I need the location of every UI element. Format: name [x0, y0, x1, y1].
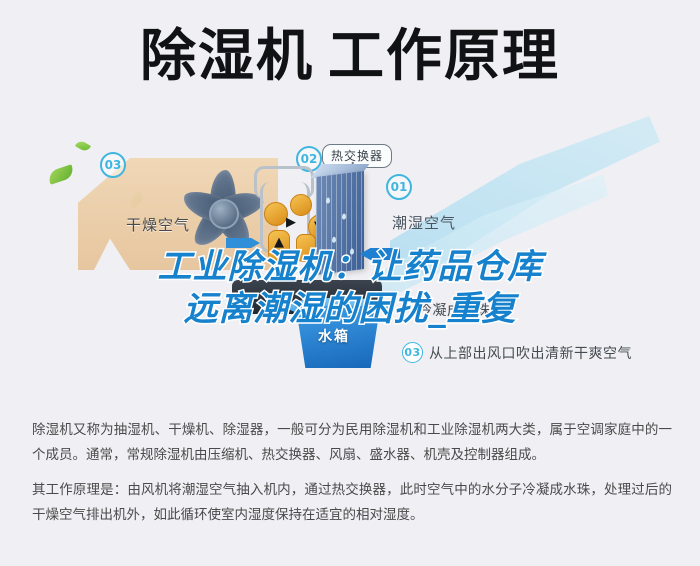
badge-03: 03 [100, 152, 126, 178]
overlay-headline-line1: 工业除湿机：让药品仓库 [0, 246, 700, 288]
coil [264, 202, 288, 226]
badge-01: 01 [386, 174, 412, 200]
body-text: 除湿机又称为抽湿机、干燥机、除湿器，一般可分为民用除湿机和工业除湿机两大类，属于… [32, 418, 672, 538]
page-root: 除湿机工作原理 干燥空气 03 潮湿空气 01 02 热交换器 [0, 0, 700, 566]
body-paragraph-1: 除湿机又称为抽湿机、干燥机、除湿器，一般可分为民用除湿机和工业除湿机两大类，属于… [32, 418, 672, 468]
leaf-icon [47, 164, 76, 184]
coil [290, 194, 312, 216]
page-title-part2: 工作原理 [328, 24, 560, 89]
humid-air-label: 潮湿空气 [392, 212, 456, 233]
caption-03-text: 从上部出风口吹出清新干爽空气 [429, 343, 632, 363]
overlay-headline-line2: 远离潮湿的困扰_重复 [0, 288, 700, 330]
body-paragraph-2: 其工作原理是：由风机将潮湿空气抽入机内，通过热交换器，此时空气中的水分子冷凝成水… [32, 478, 672, 528]
overlay-headline: 工业除湿机：让药品仓库 远离潮湿的困扰_重复 [0, 246, 700, 330]
caption-badge-03: 03 [402, 342, 423, 363]
page-title: 除湿机工作原理 [0, 26, 700, 88]
flow-arrow-icon: ▶ [286, 216, 296, 229]
leaf-icon [75, 139, 91, 153]
caption-03: 03 从上部出风口吹出清新干爽空气 [402, 342, 632, 363]
page-title-part1: 除湿机 [140, 24, 314, 89]
fan-hub [209, 199, 239, 229]
